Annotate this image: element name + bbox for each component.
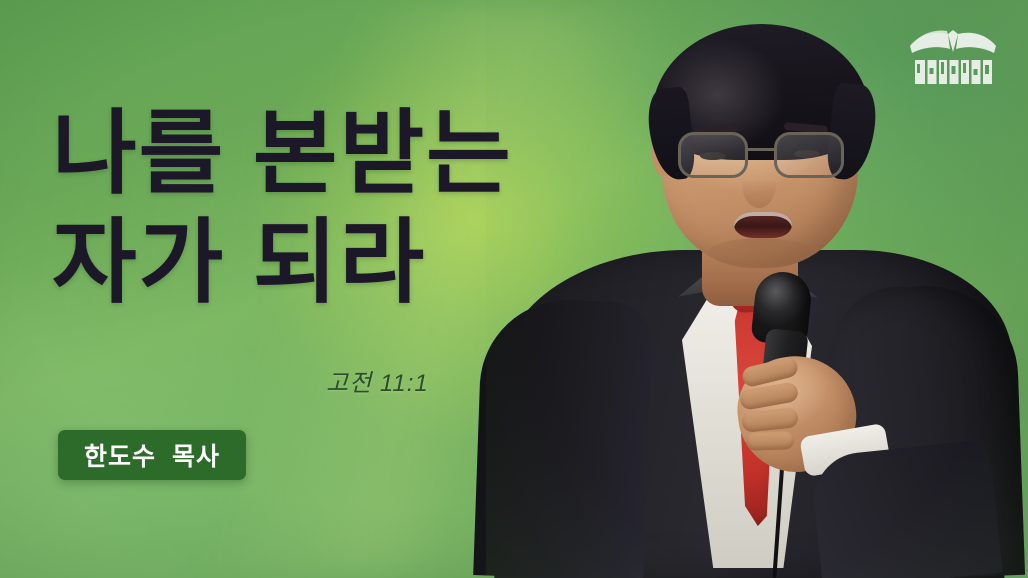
mouth bbox=[734, 212, 792, 238]
speaker-badge: 한도수 목사 bbox=[58, 430, 246, 480]
chin-shadow bbox=[708, 238, 814, 266]
sermon-title: 나를 본받는 자가 되라 bbox=[52, 100, 572, 317]
finger bbox=[746, 431, 795, 451]
slide-canvas: 나를 본받는 자가 되라 고전 11:1 한도수 목사 bbox=[0, 0, 1028, 578]
right-lens bbox=[774, 132, 844, 178]
left-shoulder bbox=[473, 297, 653, 578]
title-line-1: 나를 본받는 bbox=[52, 100, 572, 209]
open-book-logo bbox=[904, 16, 1002, 88]
suit-sleeve bbox=[809, 439, 1002, 578]
speaker-name-label: 한도수 목사 bbox=[84, 437, 220, 473]
glasses-bridge bbox=[748, 148, 776, 151]
nose bbox=[742, 160, 776, 208]
title-line-2: 자가 되라 bbox=[52, 209, 572, 318]
scripture-reference: 고전 11:1 bbox=[326, 363, 429, 398]
left-lens bbox=[678, 132, 748, 178]
